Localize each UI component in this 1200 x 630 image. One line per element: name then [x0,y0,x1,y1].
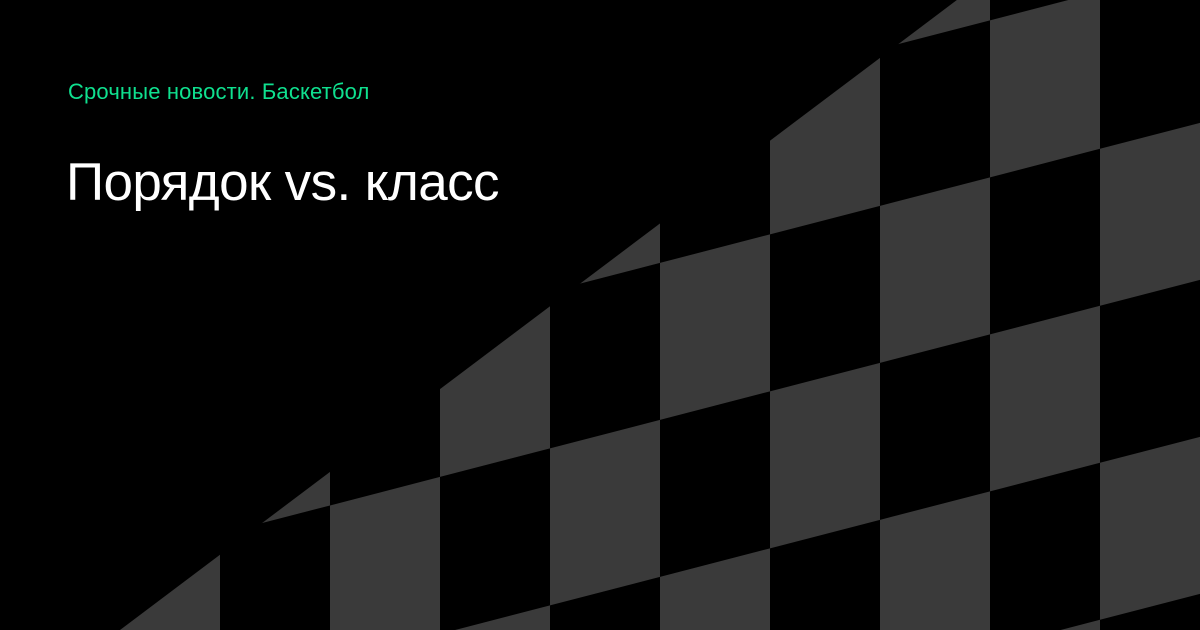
news-card: Срочные новости. Баскетбол Порядок vs. к… [0,0,1200,630]
text-layer: Срочные новости. Баскетбол Порядок vs. к… [0,0,1200,630]
page-title: Порядок vs. класс [66,152,499,214]
kicker-label: Срочные новости. Баскетбол [68,78,370,106]
